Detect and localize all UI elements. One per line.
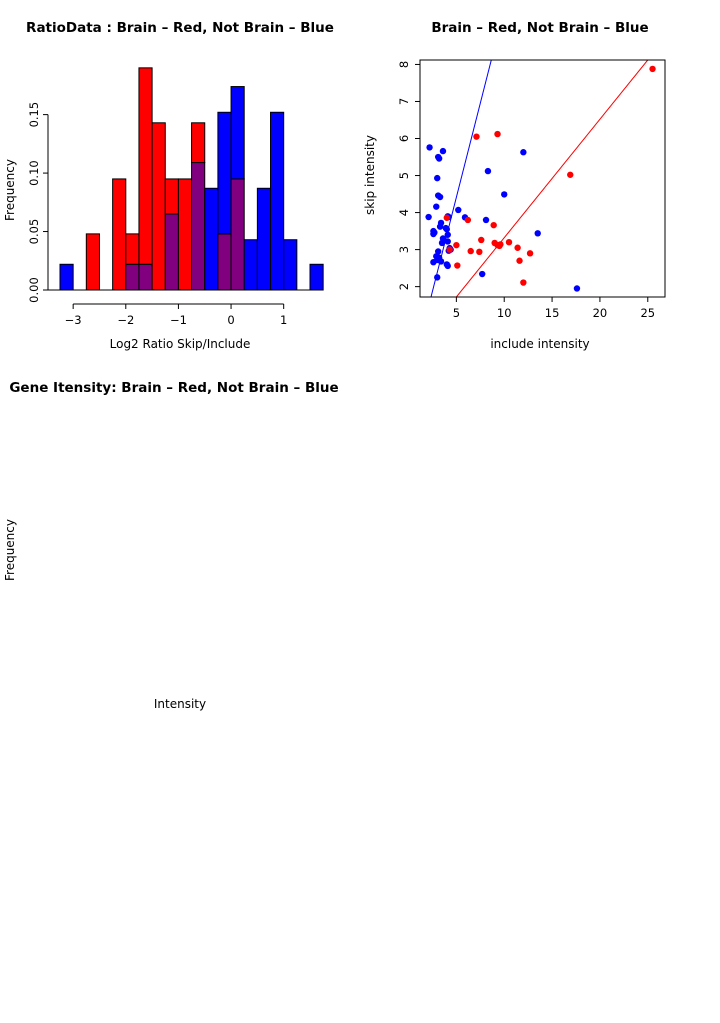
y-axis-tick-label: 0.05	[27, 219, 41, 245]
histogram-bar-not-brain	[205, 188, 218, 290]
scatter-point-brain	[446, 246, 452, 252]
histogram-bar-brain	[152, 123, 165, 290]
panel-info: G7252338@J948584_RC@j_at alt5Prime Cul4b…	[360, 360, 720, 720]
scatter-point-brain	[497, 241, 503, 247]
scatter-point-not-brain	[437, 194, 443, 200]
scatter-point-brain	[476, 249, 482, 255]
scatter-point-not-brain	[444, 226, 450, 232]
ratio-histogram-bars	[48, 68, 323, 290]
scatter-point-not-brain	[574, 285, 580, 291]
histogram-bar-not-brain	[231, 87, 244, 179]
histogram-bar-not-brain	[310, 264, 323, 290]
scatter-point-brain	[649, 66, 655, 72]
scatter-point-not-brain	[479, 271, 485, 277]
scatter-frame	[420, 60, 665, 297]
scatter-y-tick-label: 5	[397, 172, 411, 179]
scatter-point-not-brain	[535, 230, 541, 236]
scatter-plot-area	[425, 60, 655, 297]
scatter-point-not-brain	[445, 263, 451, 269]
scatter-point-brain	[468, 248, 474, 254]
scatter-y-tick-label: 6	[397, 135, 411, 142]
histogram-bar-overlap	[218, 234, 231, 290]
scatter-xlabel: include intensity	[490, 337, 589, 351]
scatter-point-brain	[520, 279, 526, 285]
scatter-point-not-brain	[438, 258, 444, 264]
histogram-bar-overlap	[231, 179, 244, 290]
gene-histogram-ylabel: Frequency	[3, 519, 17, 581]
scatter-point-not-brain	[430, 231, 436, 237]
x-axis-tick-label: 0	[227, 313, 234, 327]
scatter-point-brain	[494, 131, 500, 137]
scatter-point-not-brain	[436, 155, 442, 161]
scatter-point-brain	[527, 250, 533, 256]
scatter-content: 2345678510152025	[397, 60, 665, 320]
histogram-bar-brain	[113, 179, 126, 290]
scatter-y-tick-label: 7	[397, 98, 411, 105]
histogram-bar-not-brain	[271, 112, 284, 290]
histogram-bar-overlap	[126, 264, 139, 290]
histogram-bar-overlap	[165, 214, 178, 290]
scatter-point-not-brain	[501, 191, 507, 197]
histogram-bar-brain	[165, 179, 178, 214]
scatter-title: Brain – Red, Not Brain – Blue	[431, 20, 648, 36]
scatter-point-not-brain	[433, 203, 439, 209]
scatter-svg: Brain – Red, Not Brain – Blue 2345678510…	[360, 0, 720, 360]
histogram-bar-not-brain	[244, 240, 257, 290]
histogram-bar-brain	[126, 234, 139, 264]
scatter-y-tick-label: 8	[397, 61, 411, 68]
scatter-point-not-brain	[426, 144, 432, 150]
scatter-point-brain	[454, 262, 460, 268]
histogram-bar-not-brain	[284, 240, 297, 290]
histogram-bar-overlap	[139, 264, 152, 290]
scatter-point-brain	[567, 172, 573, 178]
scatter-point-not-brain	[440, 148, 446, 154]
scatter-ylabel: skip intensity	[363, 135, 377, 215]
scatter-point-not-brain	[430, 259, 436, 265]
scatter-point-not-brain	[425, 214, 431, 220]
histogram-bar-overlap	[192, 163, 205, 290]
gene-histogram-svg: Gene Itensity: Brain – Red, Not Brain – …	[0, 360, 360, 720]
histogram-bar-not-brain	[60, 264, 73, 290]
scatter-y-tick-label: 2	[397, 283, 411, 290]
scatter-fit-line-red-fit	[456, 60, 647, 297]
scatter-x-tick-label: 20	[593, 306, 608, 320]
gene-histogram-title: Gene Itensity: Brain – Red, Not Brain – …	[9, 380, 338, 396]
scatter-point-not-brain	[445, 238, 451, 244]
histogram-bar-brain	[192, 123, 205, 163]
scatter-point-brain	[506, 239, 512, 245]
x-axis-tick-label: −2	[117, 313, 134, 327]
panel-gene-histogram: Gene Itensity: Brain – Red, Not Brain – …	[0, 360, 360, 720]
scatter-y-tick-label: 4	[397, 209, 411, 216]
ratio-histogram-xlabel: Log2 Ratio Skip/Include	[110, 337, 251, 351]
scatter-x-tick-label: 5	[453, 306, 460, 320]
scatter-point-not-brain	[437, 223, 443, 229]
scatter-point-not-brain	[485, 168, 491, 174]
ratio-histogram-title: RatioData : Brain – Red, Not Brain – Blu…	[26, 20, 334, 36]
histogram-bar-brain	[178, 179, 191, 290]
scatter-point-brain	[465, 217, 471, 223]
scatter-point-brain	[453, 242, 459, 248]
panel-ratio-histogram: RatioData : Brain – Red, Not Brain – Blu…	[0, 0, 360, 360]
scatter-point-not-brain	[434, 175, 440, 181]
y-axis-tick-label: 0.10	[27, 160, 41, 186]
scatter-point-brain	[478, 237, 484, 243]
scatter-point-brain	[473, 133, 479, 139]
panel-scatter: Brain – Red, Not Brain – Blue 2345678510…	[360, 0, 720, 360]
ratio-histogram-svg: RatioData : Brain – Red, Not Brain – Blu…	[0, 0, 360, 360]
x-axis-tick-label: −3	[65, 313, 82, 327]
histogram-bar-brain	[139, 68, 152, 264]
scatter-point-brain	[516, 258, 522, 264]
scatter-point-not-brain	[520, 149, 526, 155]
ratio-histogram-ylabel: Frequency	[3, 159, 17, 221]
scatter-point-brain	[444, 215, 450, 221]
y-axis-tick-label: 0.15	[27, 102, 41, 128]
scatter-point-not-brain	[483, 217, 489, 223]
scatter-x-tick-label: 10	[497, 306, 512, 320]
scatter-x-tick-label: 25	[640, 306, 655, 320]
scatter-point-not-brain	[434, 274, 440, 280]
histogram-bar-not-brain	[257, 188, 270, 290]
scatter-point-brain	[514, 245, 520, 251]
scatter-point-not-brain	[455, 207, 461, 213]
histogram-bar-brain	[86, 234, 99, 290]
histogram-bar-not-brain	[218, 112, 231, 234]
gene-histogram-xlabel: Intensity	[154, 697, 206, 711]
y-axis-tick-label: 0.00	[27, 277, 41, 303]
scatter-point-brain	[490, 222, 496, 228]
x-axis-tick-label: −1	[170, 313, 187, 327]
scatter-x-tick-label: 15	[545, 306, 560, 320]
scatter-y-tick-label: 3	[397, 246, 411, 253]
x-axis-tick-label: 1	[280, 313, 287, 327]
scatter-point-not-brain	[439, 240, 445, 246]
